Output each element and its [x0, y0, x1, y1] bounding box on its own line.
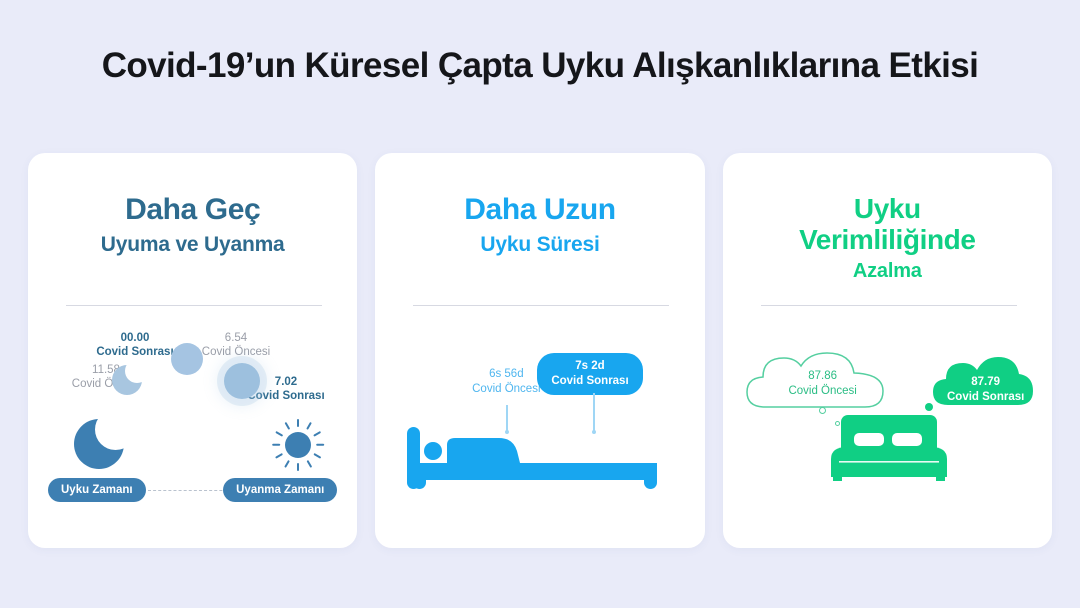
label-post-sleep-time: 00.00 Covid Sonrası: [90, 331, 180, 360]
post-efficiency-caption: Covid Sonrası: [947, 391, 1024, 403]
post-duration-caption: Covid Sonrası: [551, 375, 628, 387]
pill-sleep-time[interactable]: Uyku Zamanı: [48, 478, 146, 502]
sun-icon: [272, 419, 324, 471]
card2-illustration: 6s 56d Covid Öncesi 7s 2d Covid Sonrası: [375, 153, 704, 548]
label-pre-efficiency: 87.86 Covid Öncesi: [749, 369, 897, 399]
post-sleep-caption: Covid Sonrası: [90, 345, 180, 359]
card-longer-sleep-duration: Daha Uzun Uyku Süresi 6s 56d Covid Önces…: [375, 153, 704, 548]
glowing-circle-icon: [224, 363, 260, 399]
card1-illustration: 11.58 Covid Öncesi 00.00 Covid Sonrası 6…: [28, 153, 357, 548]
pre-efficiency-value: 87.86: [808, 370, 837, 382]
crescent-moon-small-icon: [112, 365, 142, 395]
card-sleep-efficiency-decrease: Uyku Verimliliğinde Azalma 87.86 Covid Ö…: [723, 153, 1052, 548]
circle-icon: [171, 343, 203, 375]
pre-wake-caption: Covid Öncesi: [196, 345, 276, 359]
thought-bubble-outline-icon: [819, 407, 826, 414]
pre-wake-value: 6.54: [196, 331, 276, 345]
post-wake-caption: Covid Sonrası: [246, 389, 326, 403]
post-sleep-value: 00.00: [90, 331, 180, 345]
bed-front-icon: [831, 415, 947, 481]
card3-illustration: 87.86 Covid Öncesi 87.79 Covid Sonrası: [723, 153, 1052, 548]
card-later-sleep-wake: Daha Geç Uyuma ve Uyanma 11.58 Covid Önc…: [28, 153, 357, 548]
post-duration-value: 7s 2d: [575, 360, 604, 372]
page-title: Covid-19’un Küresel Çapta Uyku Alışkanlı…: [0, 46, 1080, 86]
pill-wake-time[interactable]: Uyanma Zamanı: [223, 478, 337, 502]
pill-post-duration[interactable]: 7s 2d Covid Sonrası: [537, 353, 642, 395]
label-pre-wake-time: 6.54 Covid Öncesi: [196, 331, 276, 360]
pre-duration-value: 6s 56d: [489, 368, 524, 380]
cards-container: Daha Geç Uyuma ve Uyanma 11.58 Covid Önc…: [28, 153, 1052, 548]
label-post-efficiency: 87.79 Covid Sonrası: [935, 375, 1037, 405]
crescent-moon-icon: [74, 419, 124, 469]
thought-bubble-filled-icon: [925, 403, 933, 411]
pre-efficiency-caption: Covid Öncesi: [788, 385, 856, 397]
pre-duration-caption: Covid Öncesi: [472, 383, 540, 395]
bed-side-icon: [407, 425, 675, 497]
post-efficiency-value: 87.79: [971, 376, 1000, 388]
